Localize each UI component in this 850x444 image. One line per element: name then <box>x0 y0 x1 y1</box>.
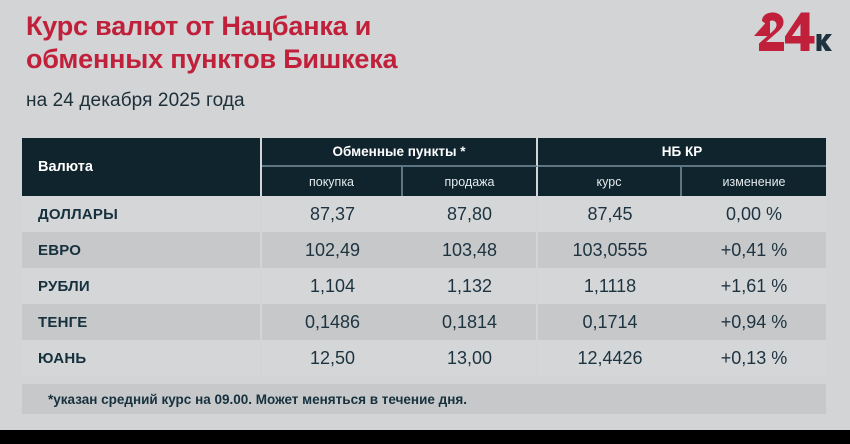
column-header-sell: продажа <box>403 167 538 196</box>
table-group-header-row: Валюта Обменные пункты * НБ КР <box>22 138 826 167</box>
cell-change: 0,00 % <box>682 196 826 232</box>
table-row: РУБЛИ 1,104 1,132 1,1118 +1,61 % <box>22 268 826 304</box>
footnote-text: *указан средний курс на 09.00. Может мен… <box>22 392 467 407</box>
cell-buy: 0,1486 <box>262 304 403 340</box>
header-block: Курс валют от Нацбанка и обменных пункто… <box>26 10 726 112</box>
table-row: ЕВРО 102,49 103,48 103,0555 +0,41 % <box>22 232 826 268</box>
brand-logo[interactable] <box>754 12 832 54</box>
table-row: ЮАНЬ 12,50 13,00 12,4426 +0,13 % <box>22 340 826 376</box>
cell-sell: 0,1814 <box>403 304 538 340</box>
page-title: Курс валют от Нацбанка и обменных пункто… <box>26 10 726 76</box>
cell-nbkr-rate: 103,0555 <box>538 232 682 268</box>
cell-nbkr-rate: 87,45 <box>538 196 682 232</box>
cell-sell: 87,80 <box>403 196 538 232</box>
column-header-change: изменение <box>682 167 826 196</box>
cell-buy: 1,104 <box>262 268 403 304</box>
cell-currency-name: РУБЛИ <box>22 268 262 304</box>
cell-buy: 102,49 <box>262 232 403 268</box>
column-header-rate: курс <box>538 167 682 196</box>
cell-sell: 13,00 <box>403 340 538 376</box>
rates-table-container: Валюта Обменные пункты * НБ КР покупка п… <box>22 138 826 376</box>
table-head: Валюта Обменные пункты * НБ КР покупка п… <box>22 138 826 196</box>
table-row: ДОЛЛАРЫ 87,37 87,80 87,45 0,00 % <box>22 196 826 232</box>
table-footnote: *указан средний курс на 09.00. Может мен… <box>22 384 826 414</box>
cell-sell: 1,132 <box>403 268 538 304</box>
cell-buy: 12,50 <box>262 340 403 376</box>
cell-currency-name: ЮАНЬ <box>22 340 262 376</box>
cell-change: +0,94 % <box>682 304 826 340</box>
cell-nbkr-rate: 1,1118 <box>538 268 682 304</box>
cell-sell: 103,48 <box>403 232 538 268</box>
cell-nbkr-rate: 0,1714 <box>538 304 682 340</box>
table-body: ДОЛЛАРЫ 87,37 87,80 87,45 0,00 % ЕВРО 10… <box>22 196 826 376</box>
column-header-currency: Валюта <box>22 138 262 196</box>
logo-24kg-icon <box>754 12 832 54</box>
cell-currency-name: ДОЛЛАРЫ <box>22 196 262 232</box>
cell-currency-name: ТЕНГЕ <box>22 304 262 340</box>
column-header-buy: покупка <box>262 167 403 196</box>
page-subtitle: на 24 декабря 2025 года <box>26 90 726 112</box>
cell-currency-name: ЕВРО <box>22 232 262 268</box>
cell-change: +0,13 % <box>682 340 826 376</box>
cell-change: +1,61 % <box>682 268 826 304</box>
column-group-header-exchange-offices: Обменные пункты * <box>262 138 538 167</box>
bottom-black-bar <box>0 430 850 444</box>
table-row: ТЕНГЕ 0,1486 0,1814 0,1714 +0,94 % <box>22 304 826 340</box>
column-group-header-nbkr: НБ КР <box>538 138 826 167</box>
currency-rates-table: Валюта Обменные пункты * НБ КР покупка п… <box>22 138 826 376</box>
cell-nbkr-rate: 12,4426 <box>538 340 682 376</box>
cell-buy: 87,37 <box>262 196 403 232</box>
infographic-page: Курс валют от Нацбанка и обменных пункто… <box>0 0 850 430</box>
cell-change: +0,41 % <box>682 232 826 268</box>
